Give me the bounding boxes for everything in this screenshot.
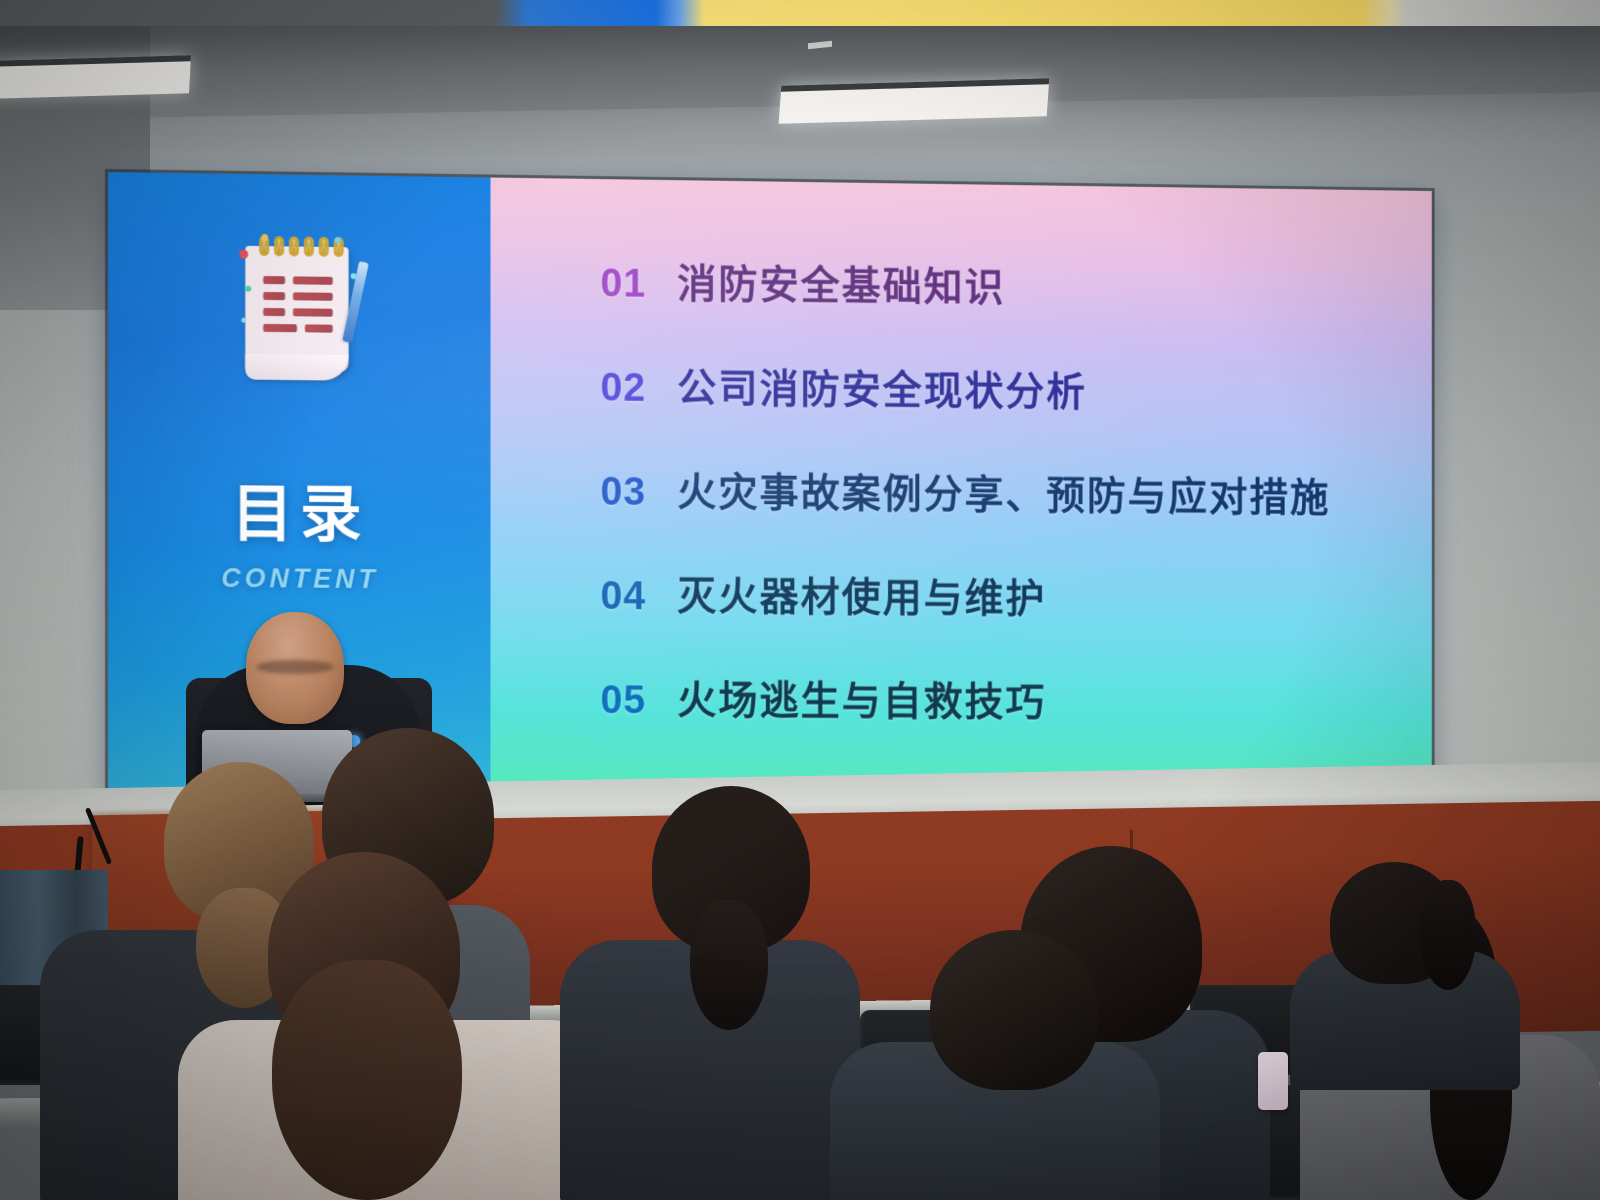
toc-label: 灭火器材使用与维护 <box>677 564 1046 624</box>
toc-label: 火场逃生与自救技巧 <box>677 668 1046 728</box>
toc-number: 05 <box>600 678 677 723</box>
smartphone <box>1258 1052 1288 1110</box>
toc-item-03: 03 火灾事故案例分享、预防与应对措施 <box>600 459 1404 524</box>
ceiling-light-left <box>0 55 191 99</box>
toc-label: 公司消防安全现状分析 <box>677 355 1087 417</box>
toc-label: 消防安全基础知识 <box>677 251 1005 313</box>
toc-number: 03 <box>600 470 677 515</box>
ceiling-top-color-strip <box>0 0 1600 26</box>
toc-label: 火灾事故案例分享、预防与应对措施 <box>677 459 1330 522</box>
table-of-contents: 01 消防安全基础知识 02 公司消防安全现状分析 03 火灾事故案例分享、预防… <box>600 250 1404 775</box>
panel-title: 目录 <box>108 462 491 555</box>
ceiling-light-center <box>779 78 1050 124</box>
presenter-face-shadow <box>256 660 334 674</box>
toc-number: 04 <box>600 574 677 619</box>
toc-item-02: 02 公司消防安全现状分析 <box>600 354 1404 420</box>
notepad-with-pen-icon <box>239 234 356 377</box>
toc-number: 02 <box>600 365 677 410</box>
lecture-room-photo: 目录 CONTENT 01 消防安全基础知识 02 公司消防安全现状分析 03 <box>0 0 1600 1200</box>
toc-item-04: 04 灭火器材使用与维护 <box>600 563 1404 627</box>
toc-item-05: 05 火场逃生与自救技巧 <box>600 667 1404 729</box>
slide-right-panel: 01 消防安全基础知识 02 公司消防安全现状分析 03 火灾事故案例分享、预防… <box>491 178 1432 803</box>
toc-number: 01 <box>600 261 677 307</box>
toc-item-01: 01 消防安全基础知识 <box>600 250 1404 318</box>
panel-subtitle: CONTENT <box>108 562 491 596</box>
